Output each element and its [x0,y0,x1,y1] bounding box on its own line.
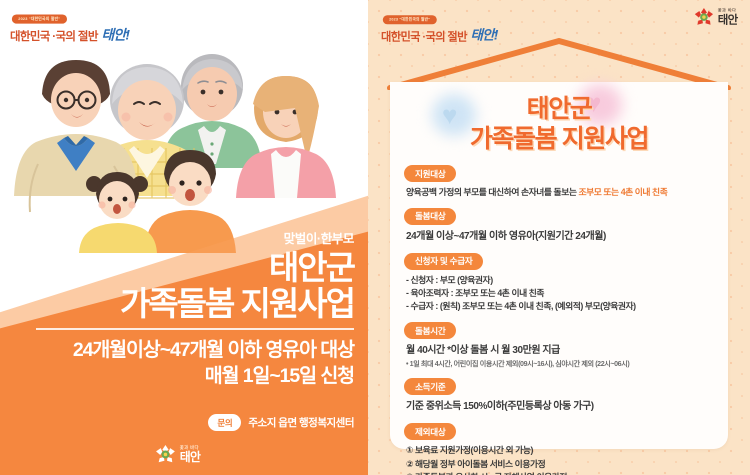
taean-logo-name: 태안 [180,451,201,463]
section-body: 24개월 이상~47개월 이하 영유아(지원기간 24개월) [404,229,714,244]
slogan-badge: 2023 "대한민국의 절반" [12,14,67,23]
contact-text: 주소지 읍면 행정복지센터 [248,415,354,430]
poster-root: 2023 "대한민국의 절반" 대한민국 ·국의 절반 태안! 맞벌이·한부모 … [0,0,750,475]
slogan-main: 대한민국 ·국의 절반 태안! [10,25,129,44]
section-body: 양육공백 가정의 부모를 대신하여 손자녀를 돌보는 조부모 또는 4촌 이내 … [404,186,714,199]
main-title-line2: 가족돌봄 지원사업 [404,125,714,153]
section-support-target: 지원대상 양육공백 가정의 부모를 대신하여 손자녀를 돌보는 조부모 또는 4… [404,164,714,200]
taean-logo-name-top: 태안 [718,14,738,26]
section-care-target: 돌봄대상 24개월 이상~47개월 이하 영유아(지원기간 24개월) [404,206,714,244]
taean-flower-icon-top [694,7,714,27]
house-body: ♥ ♥ 태안군 가족돌봄 지원사업 지원대상 양육공백 가정의 부모를 대신하여… [390,82,728,449]
left-title-line1: 태안군 [36,250,354,286]
section-exclusions: 제외대상 ① 보육료 지원가정(이용시간 외 가능) ② 해당월 정부 아이돌봄… [404,422,714,475]
section-line: - 수급자 : (원칙) 조부모 또는 4촌 이내 친족, (예외적) 부모(양… [406,300,714,313]
slogan-logo-left: 2023 "대한민국의 절반" 대한민국 ·국의 절반 태안! [10,8,129,44]
left-cover-panel: 2023 "대한민국의 절반" 대한민국 ·국의 절반 태안! 맞벌이·한부모 … [0,0,368,475]
slogan-accent-text: 태안! [101,25,129,44]
section-line: 월 40시간 *이상 돌봄 시 월 30만원 지급 [406,343,714,358]
taean-wordmark: 꽃과 바다 태안 [180,446,201,464]
left-eyebrow: 맞벌이·한부모 [36,228,354,247]
section-line-highlight: 조부모 또는 4촌 이내 친족 [578,187,667,197]
slogan-logo-right: 2023 "대한민국의 절반" 대한민국 ·국의 절반 태안! [381,9,498,44]
left-subtitle-line1: 24개월이상~47개월 이하 영유아 대상 [36,337,354,363]
left-divider [36,328,354,330]
section-care-hours: 돌봄시간 월 40시간 *이상 돌봄 시 월 30만원 지급 • 1일 최대 4… [404,321,714,370]
card-content: ♥ ♥ 태안군 가족돌봄 지원사업 지원대상 양육공백 가정의 부모를 대신하여… [390,82,728,449]
section-badge: 돌봄시간 [404,322,456,339]
section-body: - 신청자 : 부모 (양육권자) - 육아조력자 : 조부모 또는 4촌 이내… [404,274,714,314]
right-detail-panel: 2023 "대한민국의 절반" 대한민국 ·국의 절반 태안! [368,0,750,475]
right-panel-header: 2023 "대한민국의 절반" 대한민국 ·국의 절반 태안! [368,0,750,44]
slogan-korean-text: 대한민국 ·국의 절반 [10,26,98,43]
taean-county-logo-bottom: 꽃과 바다 태안 [155,444,200,465]
slogan-main-right: 대한민국 ·국의 절반 태안! [381,25,498,44]
section-line: - 육아조력자 : 조부모 또는 4촌 이내 친족 [406,287,714,300]
left-headline-block: 맞벌이·한부모 태안군 가족돌봄 지원사업 24개월이상~47개월 이하 영유아… [36,228,354,390]
taean-logo-tagline-top: 꽃과 바다 [718,9,738,13]
house-card: ♥ ♥ 태안군 가족돌봄 지원사업 지원대상 양육공백 가정의 부모를 대신하여… [384,38,734,449]
contact-badge: 문의 [208,414,241,431]
section-applicant-recipient: 신청자 및 수급자 - 신청자 : 부모 (양육권자) - 육아조력자 : 조부… [404,251,714,314]
section-income-criteria: 소득기준 기준 중위소득 150%이하(주민등록상 아동 가구) [404,377,714,415]
section-line: 양육공백 가정의 부모를 대신하여 손자녀를 돌보는 조부모 또는 4촌 이내 … [406,186,714,199]
taean-wordmark-top: 꽃과 바다 태안 [718,9,738,26]
section-line: - 신청자 : 부모 (양육권자) [406,274,714,287]
section-line-pre: 양육공백 가정의 부모를 대신하여 손자녀를 돌보는 [406,187,578,197]
section-line: ① 보육료 지원가정(이용시간 외 가능) [406,444,714,457]
section-line: 기준 중위소득 150%이하(주민등록상 아동 가구) [406,399,714,414]
slogan-accent-text-right: 태안! [470,25,497,44]
left-subtitle-line2: 매월 1일~15일 신청 [36,363,354,389]
section-line: ③ 가족돌봄과 유사한 시 · 군 자체사업 이용가정 [406,471,714,475]
section-line: 24개월 이상~47개월 이하 영유아(지원기간 24개월) [406,229,714,244]
main-title-line1: 태안군 [404,96,714,124]
section-badge: 제외대상 [404,423,456,440]
taean-county-logo-top: 꽃과 바다 태안 [694,7,738,27]
main-title-block: 태안군 가족돌봄 지원사업 [404,82,714,153]
slogan-korean-text-right: 대한민국 ·국의 절반 [381,27,467,44]
contact-row: 문의 주소지 읍면 행정복지센터 [208,414,354,431]
section-badge: 신청자 및 수급자 [404,253,483,270]
section-badge: 소득기준 [404,378,456,395]
taean-logo-tagline: 꽃과 바다 [180,446,201,450]
section-body: 월 40시간 *이상 돌봄 시 월 30만원 지급 • 1일 최대 4시간, 어… [404,343,714,370]
section-body: 기준 중위소득 150%이하(주민등록상 아동 가구) [404,399,714,414]
sections-list: 지원대상 양육공백 가정의 부모를 대신하여 손자녀를 돌보는 조부모 또는 4… [404,164,714,475]
section-line: ② 해당월 정부 아이돌봄 서비스 이용가정 [406,458,714,471]
section-note: • 1일 최대 4시간, 어린이집 이용시간 제외(09시~16시), 심야시간… [406,359,714,370]
section-badge: 돌봄대상 [404,208,456,225]
left-title-line2: 가족돌봄 지원사업 [36,286,354,322]
section-badge: 지원대상 [404,165,456,182]
taean-flower-icon [155,444,176,465]
slogan-badge-right: 2023 "대한민국의 절반" [383,15,437,24]
section-body: ① 보육료 지원가정(이용시간 외 가능) ② 해당월 정부 아이돌봄 서비스 … [404,444,714,475]
